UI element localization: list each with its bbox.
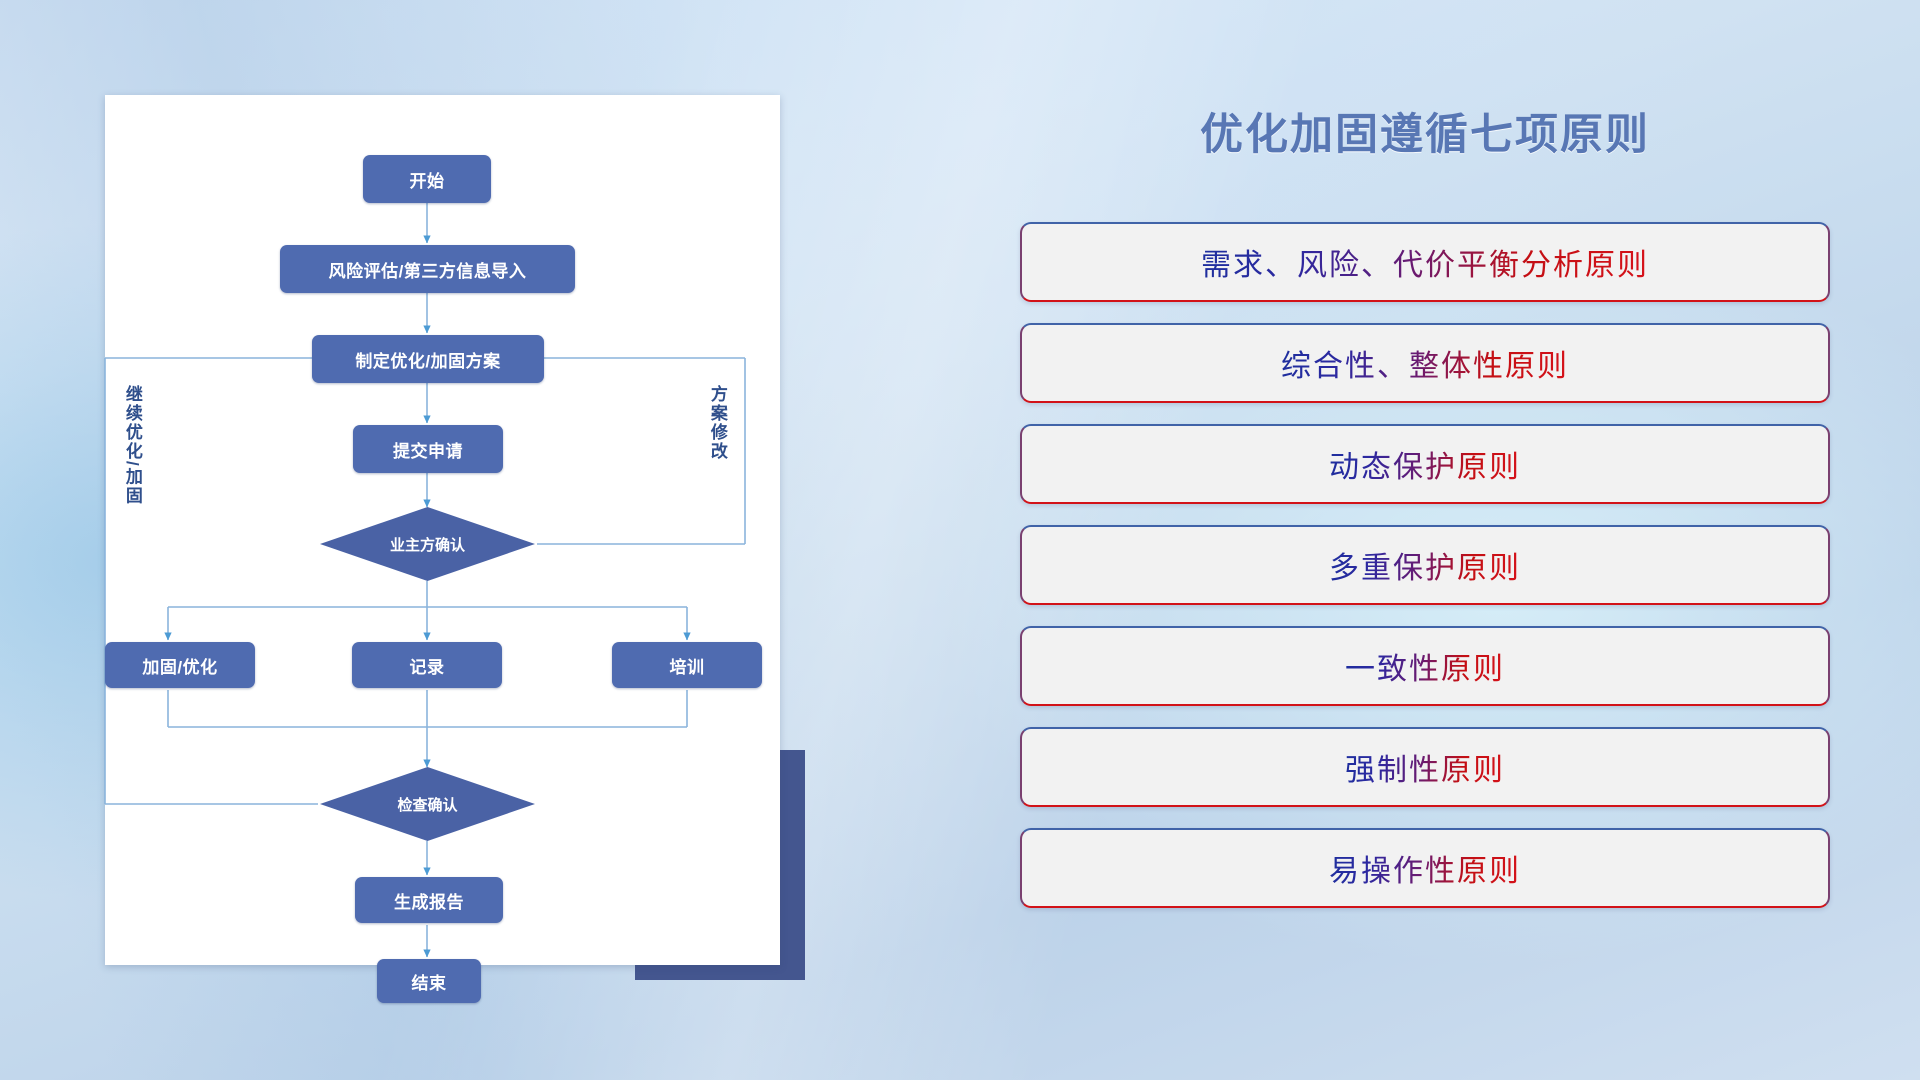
principles-title: 优化加固遵循七项原则 (1020, 100, 1830, 162)
flow-node-risk-assessment-label: 风险评估/第三方信息导入 (329, 257, 527, 282)
principle-item[interactable]: 易操作性原则 (1020, 828, 1830, 908)
flow-node-start-label: 开始 (410, 167, 445, 192)
principle-item-label: 需求、风险、代价平衡分析原则 (1201, 240, 1649, 284)
flow-node-end-label: 结束 (412, 969, 447, 994)
principle-item[interactable]: 强制性原则 (1020, 727, 1830, 807)
flow-decision-check-confirm-label: 检查确认 (397, 794, 457, 815)
flow-decision-owner-confirm-label: 业主方确认 (390, 534, 465, 555)
flow-node-reinforce[interactable]: 加固/优化 (105, 642, 255, 688)
flow-node-plan[interactable]: 制定优化/加固方案 (312, 335, 544, 383)
principle-item[interactable]: 动态保护原则 (1020, 424, 1830, 504)
principle-item-label: 多重保护原则 (1329, 543, 1521, 587)
principles-panel: 优化加固遵循七项原则 需求、风险、代价平衡分析原则 综合性、整体性原则 动态保护… (1020, 100, 1830, 1000)
flow-node-report-label: 生成报告 (394, 888, 464, 913)
flow-node-training[interactable]: 培训 (612, 642, 762, 688)
flow-edge-label-right: 方案修改 (708, 385, 726, 505)
principle-item[interactable]: 多重保护原则 (1020, 525, 1830, 605)
flow-node-submit-label: 提交申请 (393, 437, 463, 462)
flow-node-report[interactable]: 生成报告 (355, 877, 503, 923)
flow-node-submit[interactable]: 提交申请 (353, 425, 503, 473)
flow-node-plan-label: 制定优化/加固方案 (355, 347, 500, 372)
flow-node-risk-assessment[interactable]: 风险评估/第三方信息导入 (280, 245, 575, 293)
flow-node-training-label: 培训 (670, 653, 705, 678)
principle-item[interactable]: 一致性原则 (1020, 626, 1830, 706)
flow-decision-owner-confirm[interactable]: 业主方确认 (320, 507, 535, 581)
flowchart-card: 开始 风险评估/第三方信息导入 制定优化/加固方案 提交申请 业主方确认 加固/… (105, 95, 780, 965)
principle-item-label: 强制性原则 (1345, 745, 1505, 789)
principle-item[interactable]: 需求、风险、代价平衡分析原则 (1020, 222, 1830, 302)
principles-list: 需求、风险、代价平衡分析原则 综合性、整体性原则 动态保护原则 多重保护原则 一… (1020, 222, 1830, 929)
principle-item-label: 易操作性原则 (1329, 846, 1521, 890)
flowchart-canvas: 开始 风险评估/第三方信息导入 制定优化/加固方案 提交申请 业主方确认 加固/… (105, 95, 780, 965)
flow-edge-label-left: 继续优化/加固 (123, 385, 141, 545)
principle-item-label: 一致性原则 (1345, 644, 1505, 688)
principle-item-label: 动态保护原则 (1329, 442, 1521, 486)
principle-item[interactable]: 综合性、整体性原则 (1020, 323, 1830, 403)
flow-node-record-label: 记录 (410, 653, 445, 678)
principle-item-label: 综合性、整体性原则 (1281, 341, 1569, 385)
flow-node-end[interactable]: 结束 (377, 959, 481, 1003)
flow-node-reinforce-label: 加固/优化 (142, 653, 217, 678)
flow-node-record[interactable]: 记录 (352, 642, 502, 688)
flow-node-start[interactable]: 开始 (363, 155, 491, 203)
flow-decision-check-confirm[interactable]: 检查确认 (320, 767, 535, 841)
